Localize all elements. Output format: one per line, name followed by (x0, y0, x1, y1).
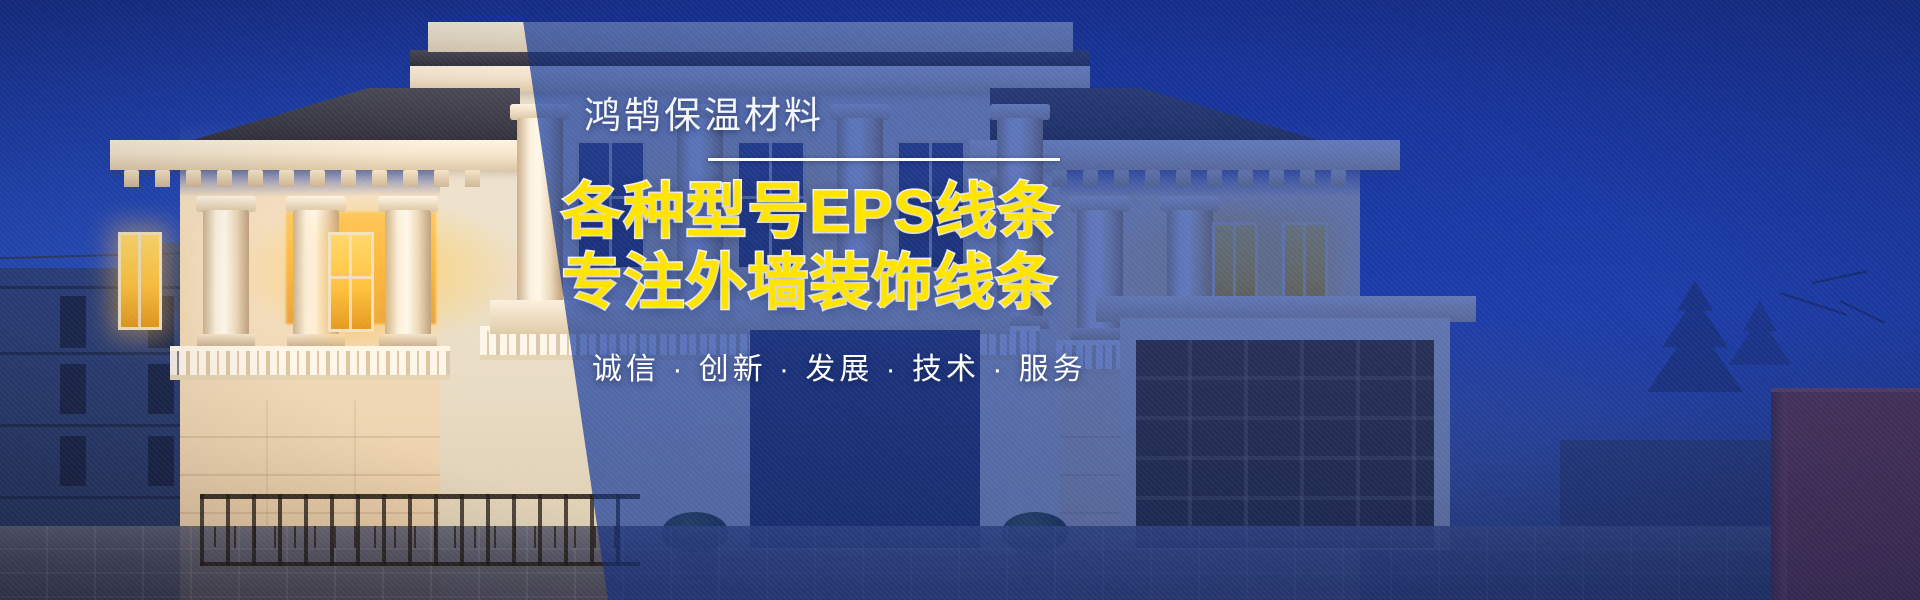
window-mullion (138, 232, 141, 330)
headline-line-1: 各种型号EPS线条 (562, 178, 1060, 245)
iron-railing-scroll (208, 526, 632, 548)
villa-dentils-left (124, 170, 480, 187)
tagline: 诚信 · 创新 · 发展 · 技术 · 服务 (592, 344, 1262, 388)
villa-column (385, 210, 431, 336)
background-window (60, 364, 86, 414)
window-mullion (349, 232, 352, 332)
headline: 各种型号EPS线条 专注外墙装饰线条 (562, 177, 1262, 317)
villa-column (203, 210, 249, 336)
balustrade (170, 346, 450, 380)
villa-cornice-left (110, 140, 540, 170)
promo-banner: 鸿鹄保温材料 各种型号EPS线条 专注外墙装饰线条 诚信 · 创新 · 发展 ·… (0, 0, 1920, 600)
background-window (60, 296, 86, 348)
window-mullion (328, 276, 374, 279)
brand-name: 鸿鹄保温材料 (584, 94, 1262, 138)
headline-line-2: 专注外墙装饰线条 (562, 248, 1262, 318)
banner-text-block: 鸿鹄保温材料 各种型号EPS线条 专注外墙装饰线条 诚信 · 创新 · 发展 ·… (562, 94, 1262, 388)
background-window (60, 436, 86, 486)
title-divider (708, 158, 1060, 161)
